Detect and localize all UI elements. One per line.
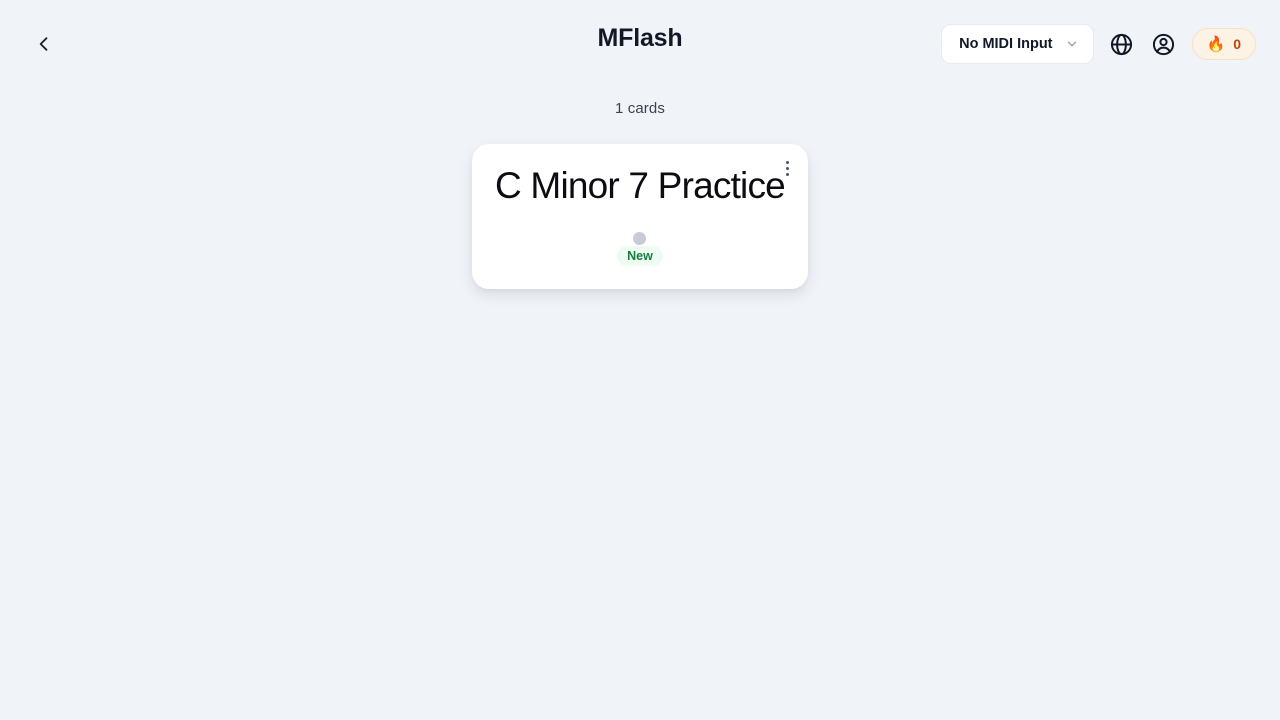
deck-menu-button[interactable] (774, 154, 800, 182)
flame-icon: 🔥 (1207, 37, 1226, 52)
user-circle-icon (1151, 32, 1176, 57)
status-dot-icon (633, 232, 646, 245)
streak-count: 0 (1233, 36, 1241, 52)
deck-status: New (617, 232, 663, 266)
deck-grid: C Minor 7 Practice New (0, 144, 1280, 289)
card-count-label: 1 cards (0, 100, 1280, 117)
kebab-menu-icon (786, 161, 789, 176)
chevron-down-icon (1065, 37, 1079, 51)
header-actions: No MIDI Input 🔥 0 (941, 24, 1256, 64)
status-badge: New (617, 246, 663, 266)
language-button[interactable] (1108, 30, 1136, 58)
deck-title: C Minor 7 Practice (495, 166, 785, 206)
app-header: MFlash No MIDI Input 🔥 0 (0, 0, 1280, 88)
streak-badge[interactable]: 🔥 0 (1192, 28, 1256, 60)
account-button[interactable] (1150, 30, 1178, 58)
midi-input-select[interactable]: No MIDI Input (941, 24, 1093, 64)
midi-input-label: No MIDI Input (959, 36, 1052, 52)
globe-icon (1109, 32, 1134, 57)
deck-card[interactable]: C Minor 7 Practice New (472, 144, 808, 289)
